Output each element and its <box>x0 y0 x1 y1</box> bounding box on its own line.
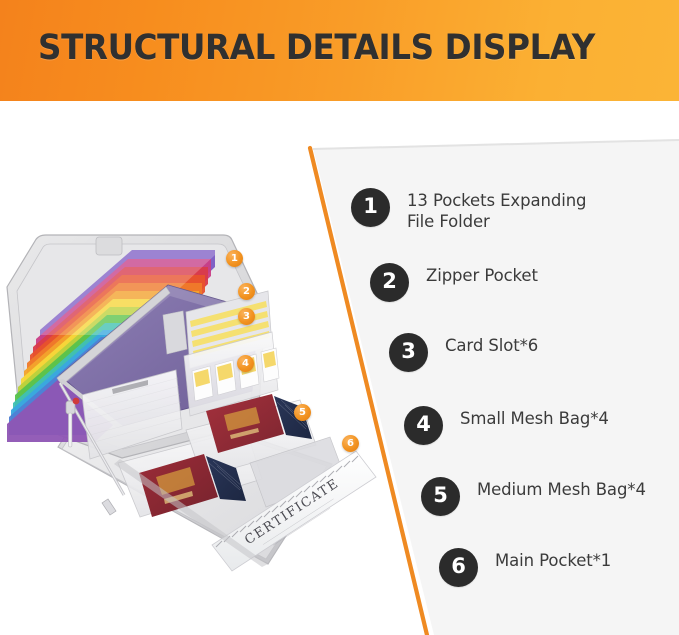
organizer-illustration: CERTIFICATE <box>0 215 400 585</box>
legend-item-6[interactable]: 6 Main Pocket*1 <box>439 548 611 587</box>
card-slot-divider <box>163 311 187 354</box>
product-image: CERTIFICATE <box>0 215 400 585</box>
legend-label-3: Card Slot*6 <box>445 333 538 356</box>
legend-label-4: Small Mesh Bag*4 <box>460 406 609 429</box>
product-callout-4: 4 <box>237 355 254 372</box>
legend-badge-4: 4 <box>404 406 443 445</box>
page-title: STRUCTURAL DETAILS DISPLAY <box>38 28 595 68</box>
legend-label-6: Main Pocket*1 <box>495 548 611 571</box>
product-callout-6: 6 <box>342 435 359 452</box>
header-banner: STRUCTURAL DETAILS DISPLAY <box>0 0 679 101</box>
product-callout-2: 2 <box>238 283 255 300</box>
product-callout-5: 5 <box>294 404 311 421</box>
legend-badge-5: 5 <box>421 477 460 516</box>
product-callout-1: 1 <box>226 250 243 267</box>
legend-item-4[interactable]: 4 Small Mesh Bag*4 <box>404 406 609 445</box>
legend-item-5[interactable]: 5 Medium Mesh Bag*4 <box>421 477 646 516</box>
legend-badge-6: 6 <box>439 548 478 587</box>
legend-item-3[interactable]: 3 Card Slot*6 <box>389 333 538 372</box>
legend-label-5: Medium Mesh Bag*4 <box>477 477 646 500</box>
product-callout-3: 3 <box>238 308 255 325</box>
legend-label-2: Zipper Pocket <box>426 263 538 286</box>
screenshot-root: STRUCTURAL DETAILS DISPLAY 1 13 Pockets … <box>0 0 679 635</box>
legend-label-1: 13 Pockets Expanding File Folder <box>407 188 586 232</box>
